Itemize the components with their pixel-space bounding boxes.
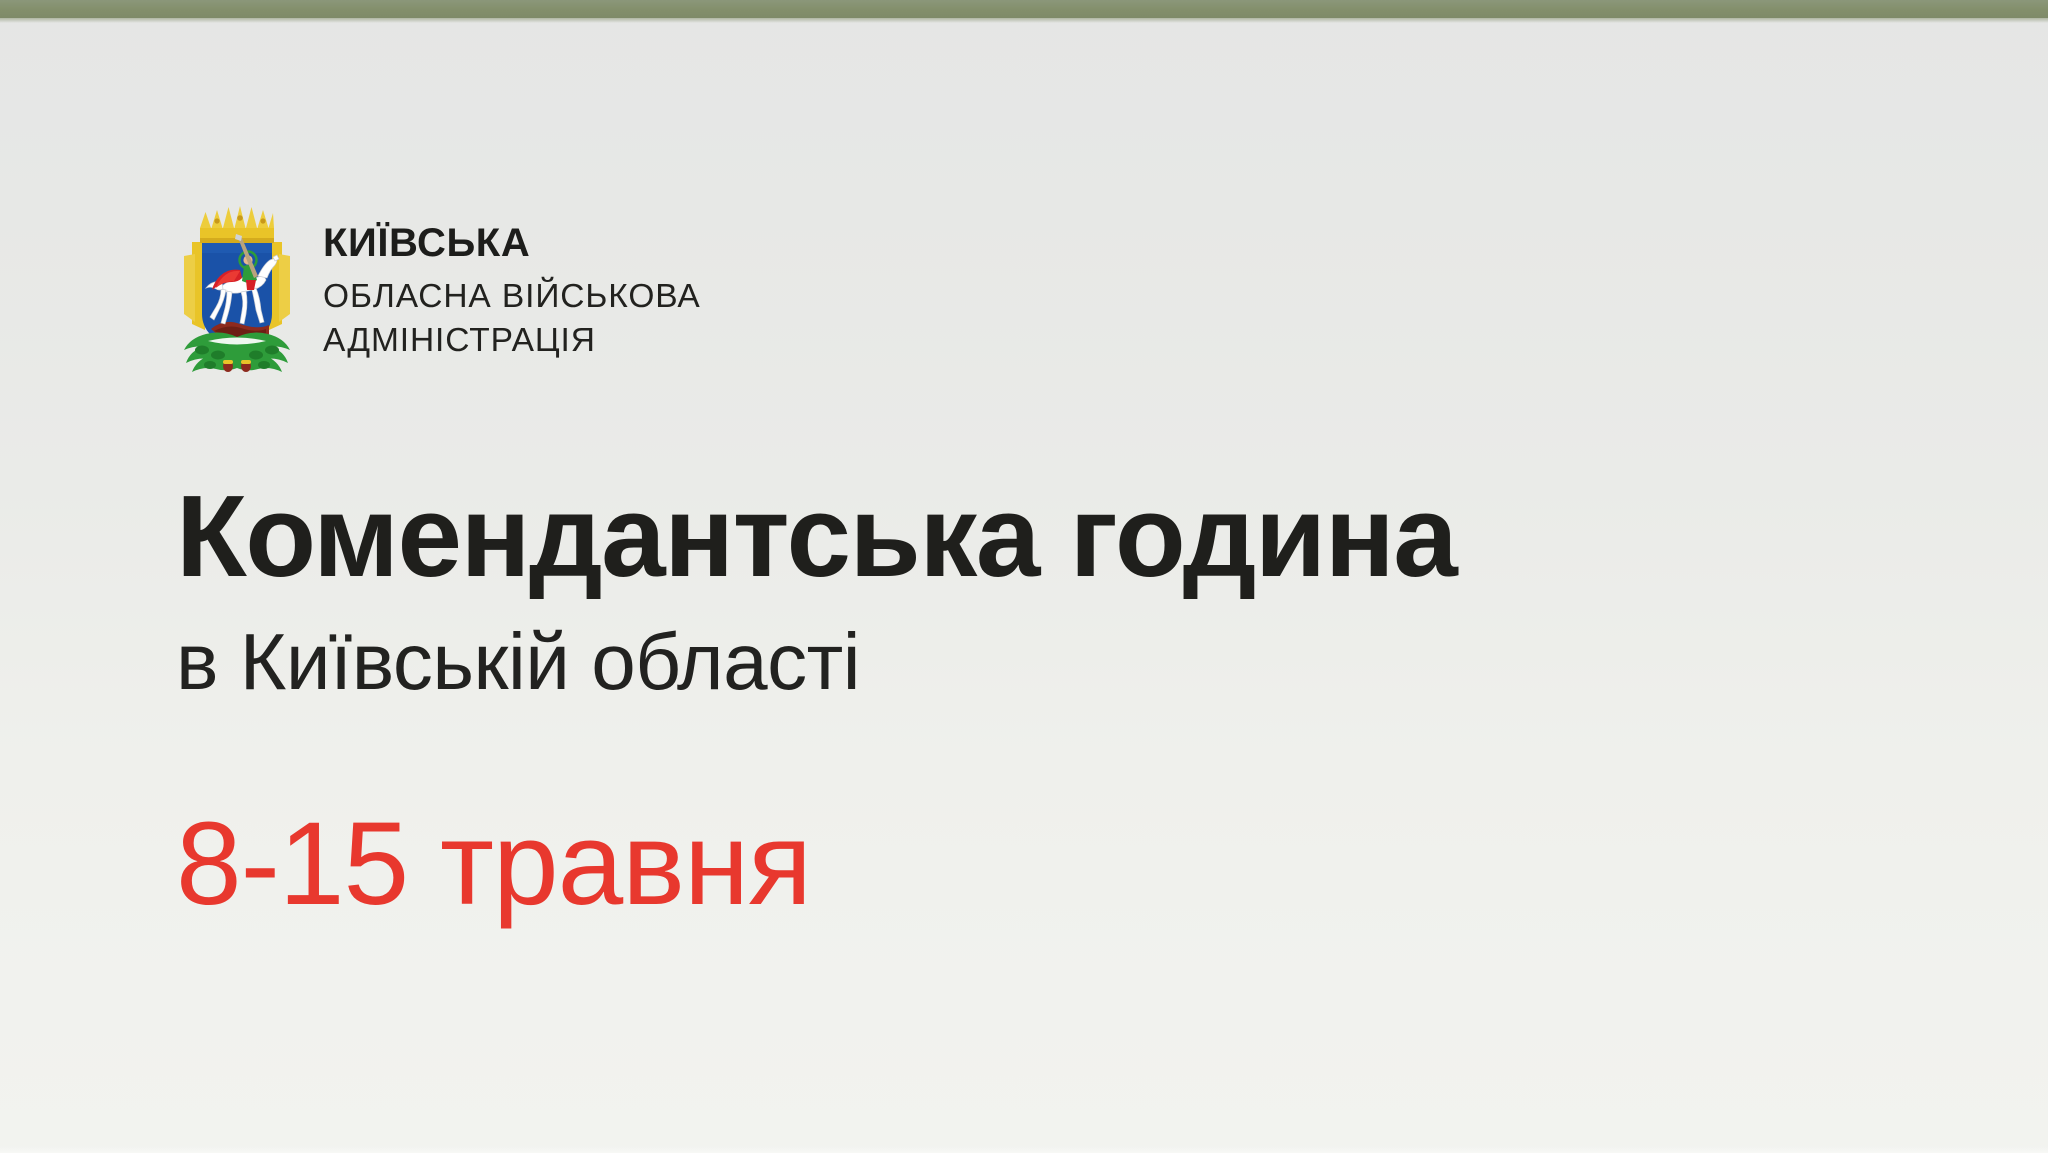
bottom-edge-strip: [0, 1146, 2048, 1153]
kyiv-oblast-coat-of-arms-icon: [178, 198, 296, 376]
date-range-text: 8-15 травня: [176, 805, 811, 923]
curfew-announcement-poster: КИЇВСЬКА ОБЛАСНА ВІЙСЬКОВА АДМІНІСТРАЦІЯ…: [0, 0, 2048, 1153]
page-title: Комендантська година: [176, 478, 1456, 594]
organization-logo-lockup: КИЇВСЬКА ОБЛАСНА ВІЙСЬКОВА АДМІНІСТРАЦІЯ: [178, 198, 701, 376]
organization-name-line-2: ОБЛАСНА ВІЙСЬКОВА: [323, 275, 701, 319]
top-accent-bar-shadow: [0, 18, 2048, 23]
organization-name-line-1: КИЇВСЬКА: [323, 223, 701, 264]
page-subtitle: в Київській області: [176, 622, 1456, 702]
headline-block: Комендантська година в Київській області: [176, 478, 1456, 702]
organization-name-block: КИЇВСЬКА ОБЛАСНА ВІЙСЬКОВА АДМІНІСТРАЦІЯ: [323, 198, 701, 363]
organization-name-line-3: АДМІНІСТРАЦІЯ: [323, 319, 701, 363]
top-accent-bar: [0, 0, 2048, 18]
